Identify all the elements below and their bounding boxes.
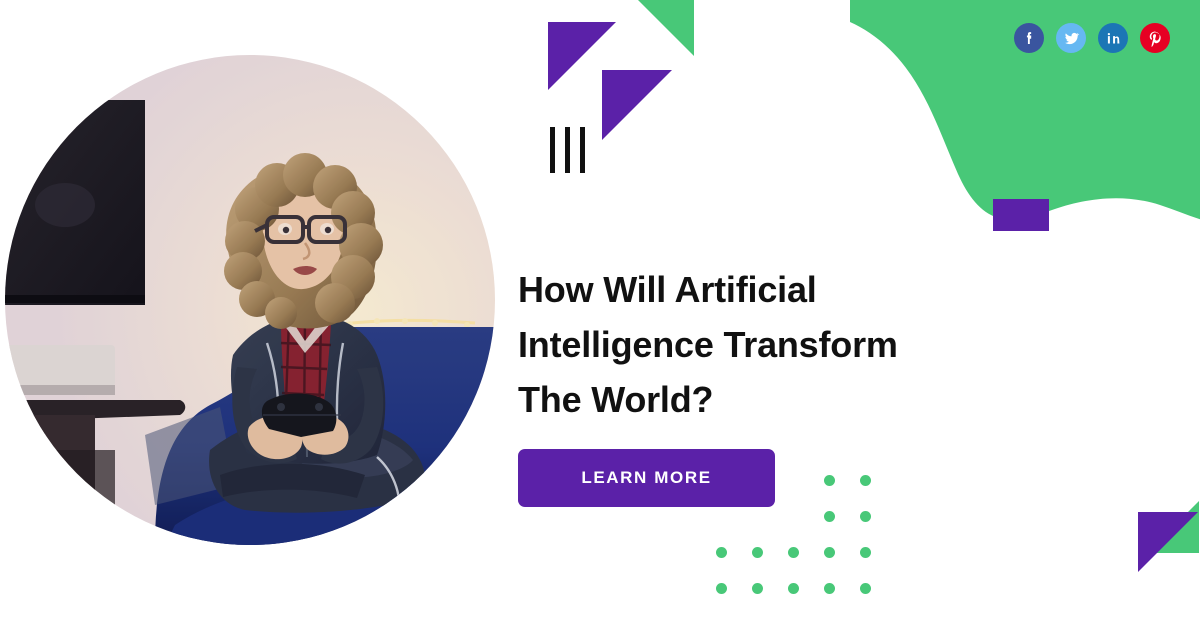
linkedin-icon[interactable] bbox=[1098, 23, 1128, 53]
dot-grid-decoration bbox=[703, 462, 883, 606]
headline-line-3: The World? bbox=[518, 372, 1038, 427]
dot bbox=[788, 547, 799, 558]
headline-line-1: How Will Artificial bbox=[518, 262, 1038, 317]
dot bbox=[824, 511, 835, 522]
facebook-icon[interactable] bbox=[1014, 23, 1044, 53]
dot bbox=[824, 547, 835, 558]
green-triangle-upper-right bbox=[632, 0, 694, 56]
dot bbox=[824, 583, 835, 594]
headline-line-2: Intelligence Transform bbox=[518, 317, 1038, 372]
hero-photo bbox=[5, 55, 495, 545]
dot bbox=[716, 547, 727, 558]
dot bbox=[752, 547, 763, 558]
dot bbox=[788, 583, 799, 594]
dot bbox=[716, 583, 727, 594]
twitter-icon[interactable] bbox=[1056, 23, 1086, 53]
bar-1 bbox=[550, 127, 555, 173]
social-links bbox=[1014, 23, 1170, 53]
dot bbox=[860, 475, 871, 486]
dot bbox=[824, 475, 835, 486]
dot bbox=[860, 511, 871, 522]
purple-triangle-lower bbox=[602, 70, 672, 140]
promo-banner: How Will Artificial Intelligence Transfo… bbox=[0, 0, 1200, 628]
vertical-bars-accent bbox=[550, 127, 585, 173]
bar-3 bbox=[580, 127, 585, 173]
hero-photo-illustration bbox=[5, 55, 495, 545]
dot bbox=[752, 583, 763, 594]
purple-triangle-corner bbox=[1138, 512, 1198, 572]
pinterest-icon[interactable] bbox=[1140, 23, 1170, 53]
dot bbox=[860, 547, 871, 558]
page-title: How Will Artificial Intelligence Transfo… bbox=[518, 262, 1038, 427]
bar-2 bbox=[565, 127, 570, 173]
purple-square-accent bbox=[993, 199, 1049, 231]
dot bbox=[860, 583, 871, 594]
